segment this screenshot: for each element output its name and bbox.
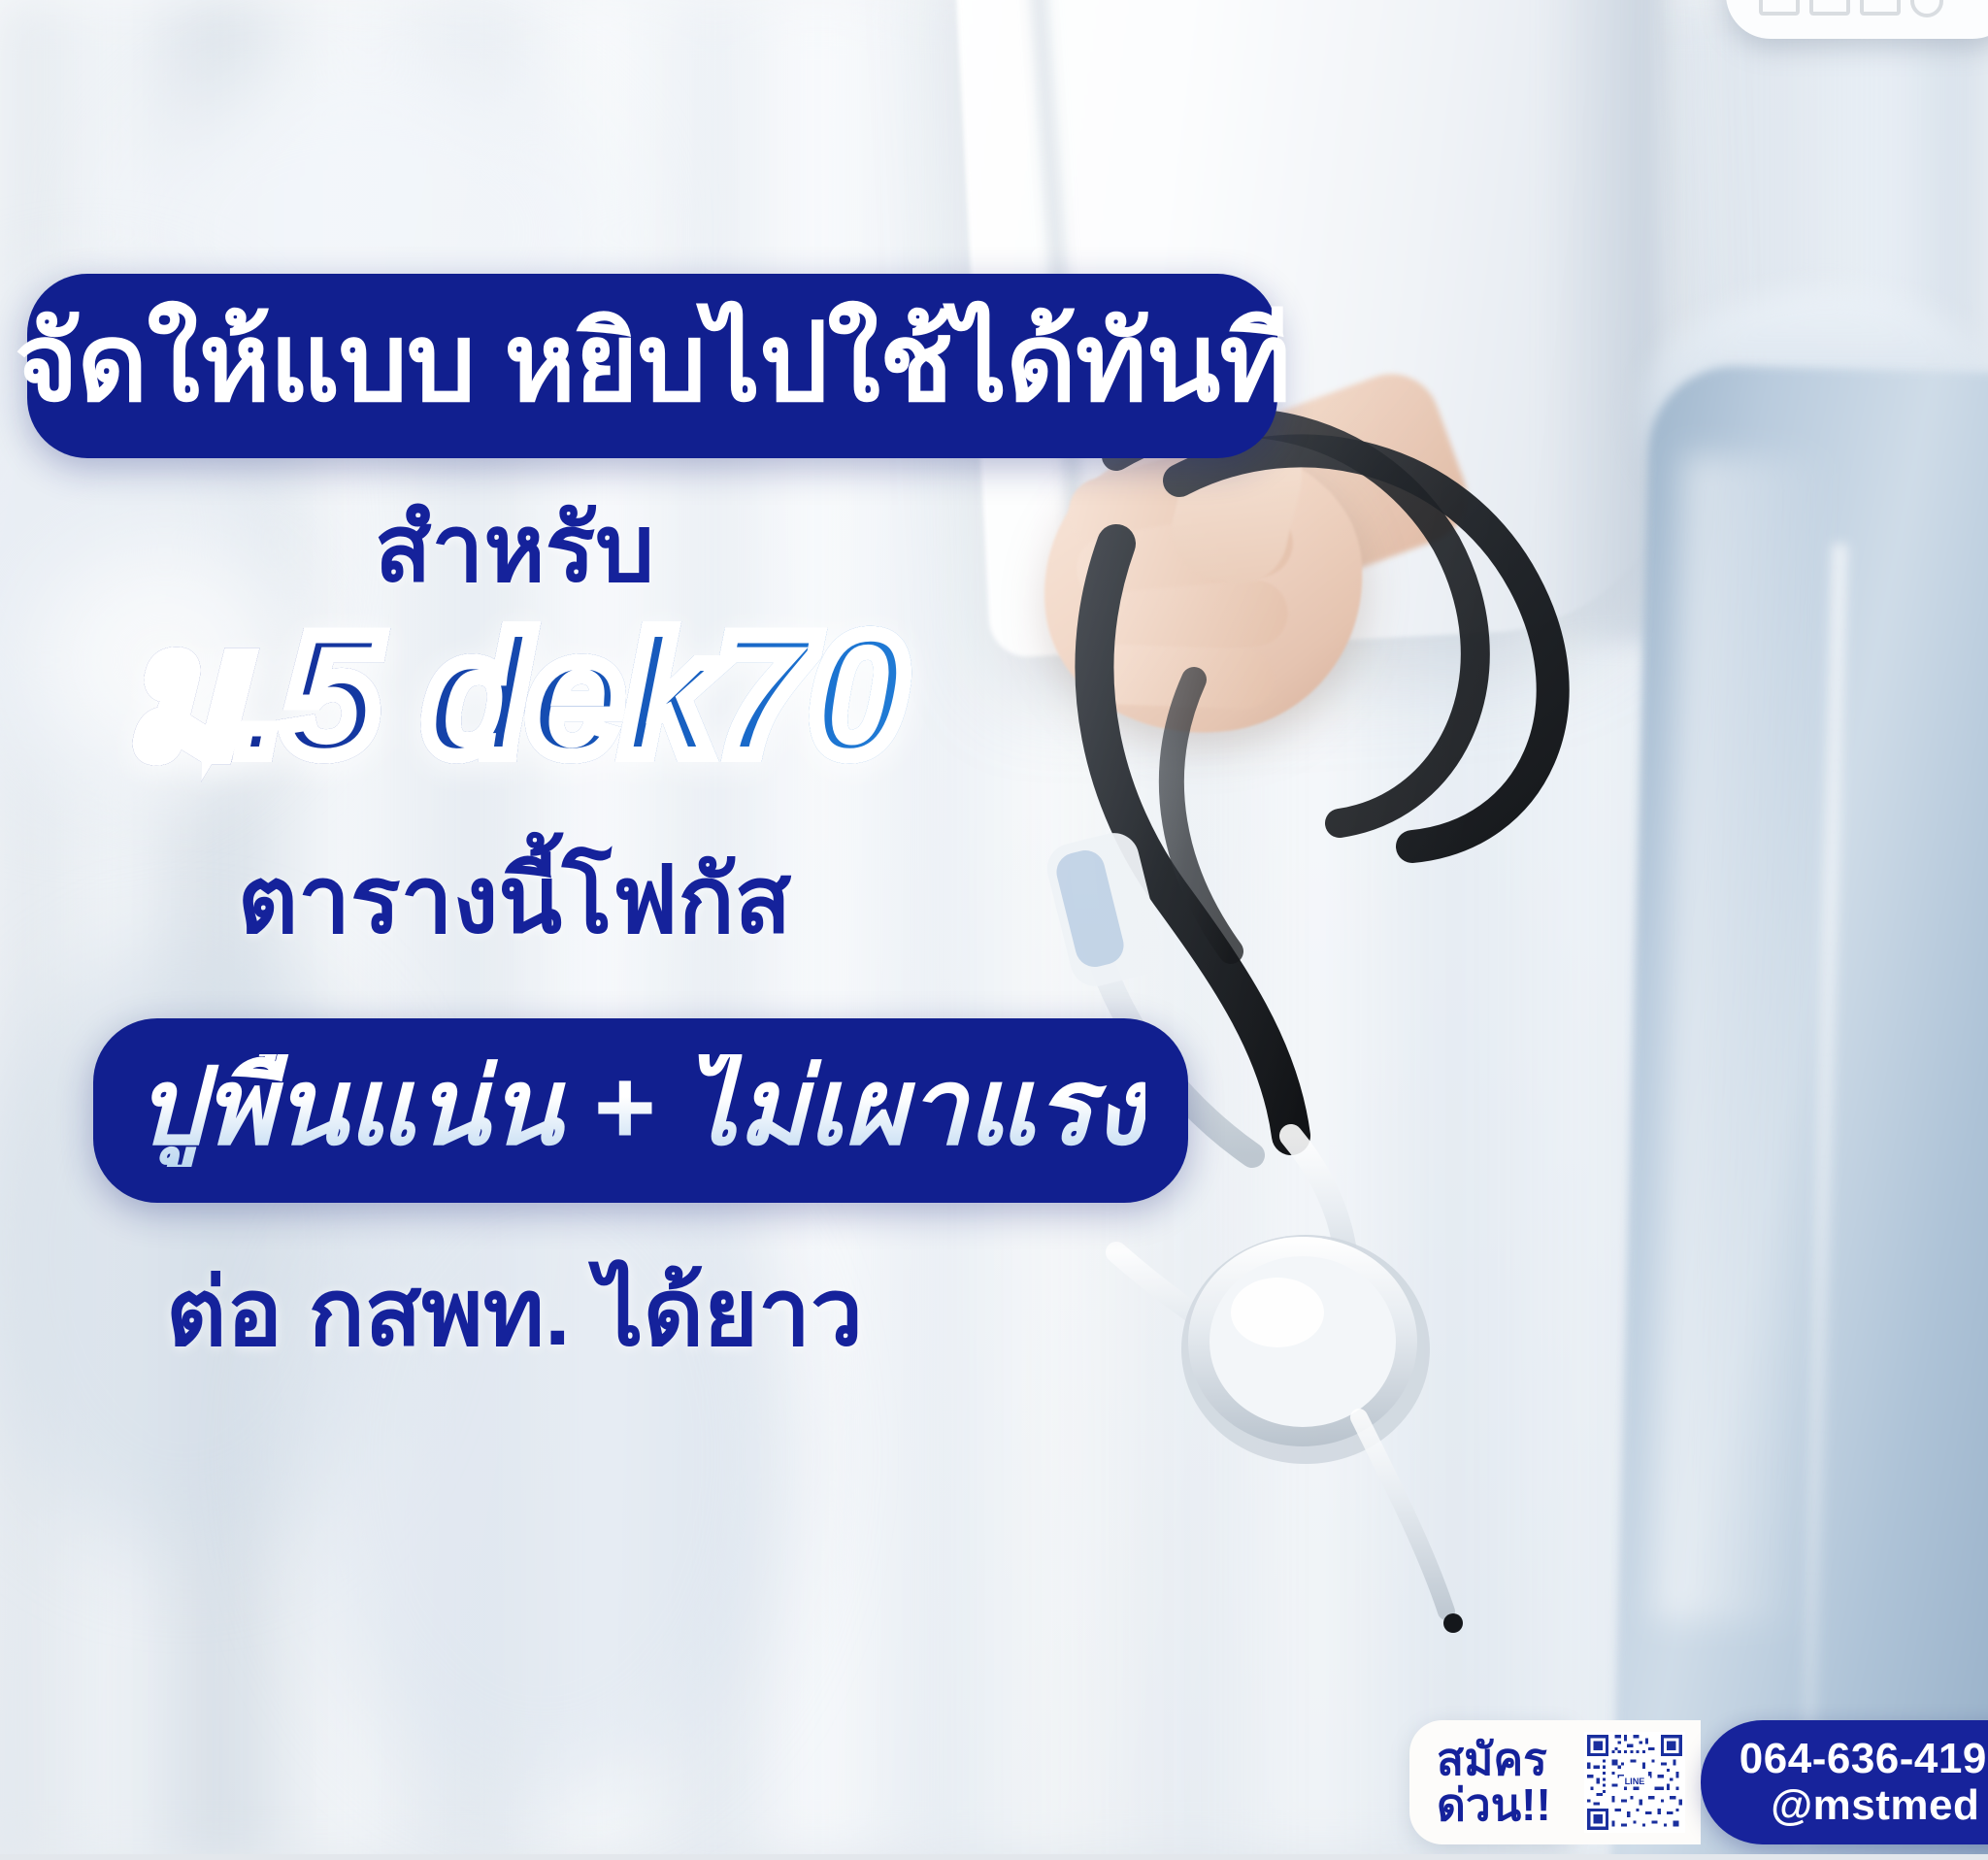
bottom-divider	[0, 1854, 1988, 1860]
page-title: ม.5 dek70	[0, 602, 1029, 788]
phone-number[interactable]: 064-636-4198	[1739, 1736, 1988, 1782]
headline-banner-top-text: จัดให้แบบ หยิบไปใช้ได้ทันที	[15, 309, 1290, 423]
poster-canvas: จัดให้แบบ หยิบไปใช้ได้ทันที สำหรับ ม.5 d…	[0, 0, 1988, 1860]
line-qr-wrapper[interactable]: LINE	[1569, 1720, 1701, 1844]
apply-now-label: สมัคร ด่วน!!	[1437, 1737, 1551, 1828]
headline-banner-top: จัดให้แบบ หยิบไปใช้ได้ทันที	[27, 274, 1277, 458]
svg-text:LINE: LINE	[1624, 1777, 1644, 1786]
line-qr-code-icon[interactable]: LINE	[1584, 1732, 1685, 1833]
contact-strip[interactable]: สมัคร ด่วน!!	[1409, 1720, 1988, 1844]
headline-banner-mid-text: ปูพื้นแน่น + ไม่เผาแรง	[136, 1054, 1145, 1167]
contact-details-pill[interactable]: 064-636-4198 @mstmed	[1701, 1720, 1988, 1844]
line-id[interactable]: @mstmed	[1771, 1782, 1979, 1829]
poster-content: จัดให้แบบ หยิบไปใช้ได้ทันที สำหรับ ม.5 d…	[0, 0, 1988, 1860]
apply-now-card: สมัคร ด่วน!!	[1409, 1720, 1569, 1844]
apply-now-line1: สมัคร	[1437, 1737, 1551, 1782]
apply-now-line2: ด่วน!!	[1437, 1782, 1551, 1828]
subtitle-for: สำหรับ	[0, 503, 1029, 596]
subtitle-tail: ต่อ กสพท. ได้ยาว	[0, 1267, 1029, 1360]
headline-banner-mid: ปูพื้นแน่น + ไม่เผาแรง	[93, 1018, 1188, 1203]
subtitle-focus: ตารางนี้โฟกัส	[0, 854, 1029, 947]
